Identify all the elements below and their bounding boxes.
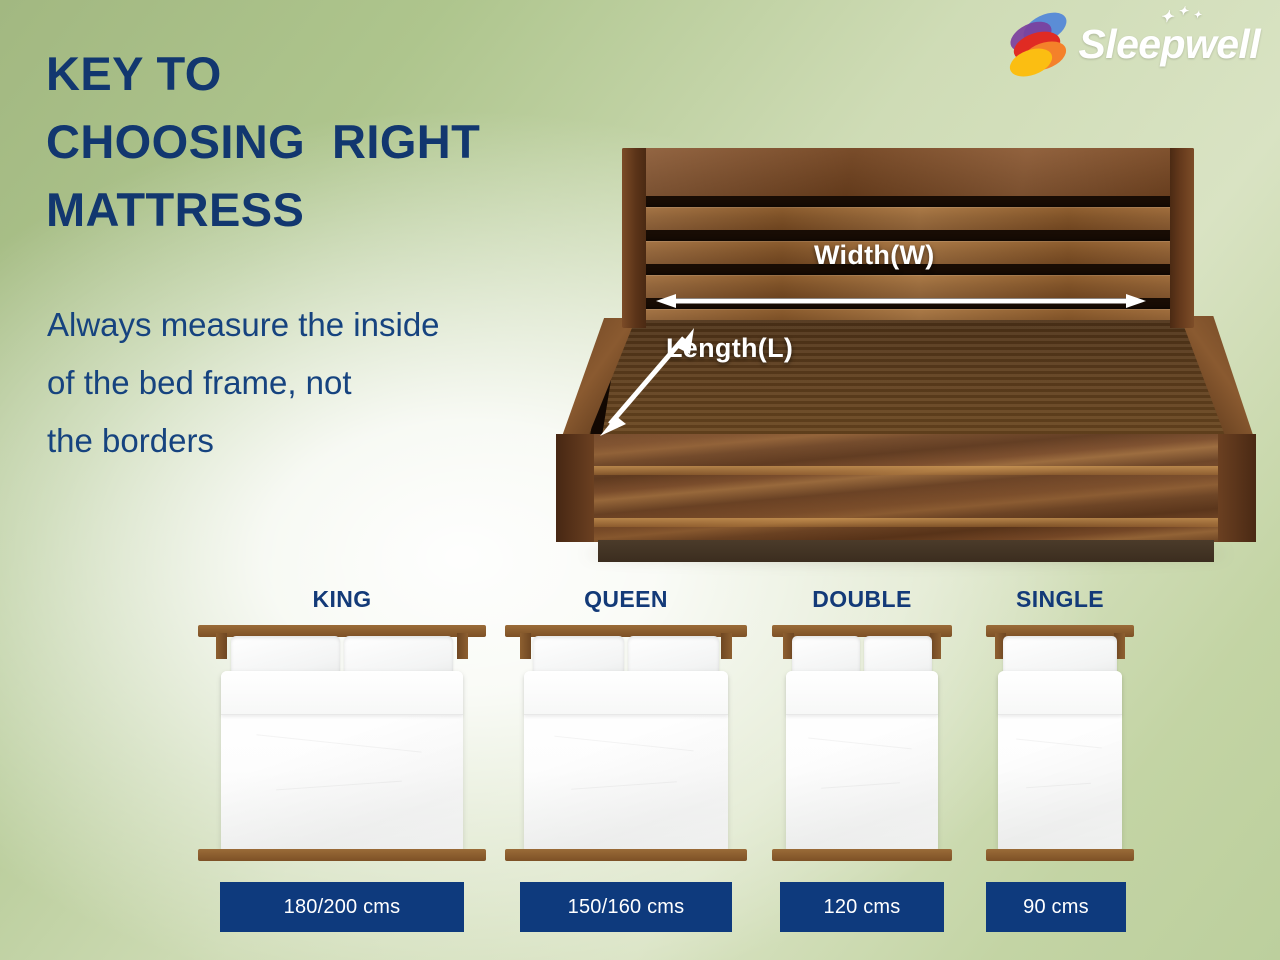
mini-bed-post-left bbox=[520, 633, 531, 659]
page-subtitle-line-1: Always measure the inside bbox=[47, 296, 567, 354]
mini-bed-post-left bbox=[216, 633, 227, 659]
mini-bed-post-right bbox=[721, 633, 732, 659]
star-icon-2: ✦ bbox=[1178, 5, 1187, 17]
logo-stars-icon: ✦ ✦ ✦ bbox=[1156, 7, 1216, 29]
mini-bed-footrail bbox=[505, 849, 747, 861]
double-arrow-diagonal-icon bbox=[586, 324, 706, 440]
headboard-gap bbox=[622, 196, 1194, 207]
brand-logo: ✦ ✦ ✦ Sleepwell bbox=[1007, 8, 1260, 80]
page-title-line-2: CHOOSING RIGHT bbox=[46, 108, 606, 176]
mini-bed-duvet-fold bbox=[786, 671, 938, 715]
footboard-cap-left bbox=[556, 434, 594, 542]
page-title-line-1: KEY TO bbox=[46, 40, 606, 108]
headboard-top-panel bbox=[622, 148, 1194, 196]
sleepwell-s-mark-icon bbox=[1007, 11, 1069, 77]
mini-bed-duvet-fold bbox=[998, 671, 1123, 715]
mini-bed-king bbox=[216, 625, 468, 861]
size-title-single: SINGLE bbox=[980, 586, 1140, 613]
size-title-queen: QUEEN bbox=[508, 586, 744, 613]
size-column-single: SINGLE 90 cms bbox=[980, 586, 1140, 861]
size-badge-double: 120 cms bbox=[780, 882, 944, 932]
headboard-slat bbox=[622, 207, 1194, 230]
mini-bed-duvet-fold bbox=[221, 671, 463, 715]
page-subtitle-line-3: the borders bbox=[47, 412, 567, 470]
size-column-queen: QUEEN 150/160 cms bbox=[508, 586, 744, 861]
bed-frame-illustration: Width(W) Length(L) bbox=[556, 148, 1256, 558]
size-column-king: KING 180/200 cms bbox=[206, 586, 478, 861]
mini-bed-footrail bbox=[198, 849, 485, 861]
mini-bed-post-right bbox=[457, 633, 468, 659]
size-badge-single: 90 cms bbox=[986, 882, 1126, 932]
size-badge-queen: 150/160 cms bbox=[520, 882, 732, 932]
star-icon-3: ✦ bbox=[1193, 11, 1201, 21]
mini-bed-double bbox=[783, 625, 941, 861]
mini-bed-queen bbox=[520, 625, 732, 861]
mini-bed-footrail bbox=[986, 849, 1134, 861]
page-subtitle: Always measure the inside of the bed fra… bbox=[47, 296, 567, 469]
width-measurement-label: Width(W) bbox=[814, 240, 935, 271]
headboard-post-left bbox=[622, 148, 646, 328]
brand-name: ✦ ✦ ✦ Sleepwell bbox=[1079, 21, 1260, 68]
size-badge-king: 180/200 cms bbox=[220, 882, 464, 932]
size-column-double: DOUBLE 120 cms bbox=[772, 586, 952, 861]
double-arrow-horizontal-icon bbox=[656, 294, 1146, 308]
bed-plinth bbox=[598, 540, 1214, 562]
mini-bed-single bbox=[995, 625, 1125, 861]
mini-bed-footrail bbox=[772, 849, 952, 861]
star-icon-1: ✦ bbox=[1160, 10, 1173, 26]
footboard-grain-band bbox=[556, 466, 1256, 475]
page-title: KEY TO CHOOSING RIGHT MATTRESS bbox=[46, 40, 606, 244]
size-title-double: DOUBLE bbox=[772, 586, 952, 613]
bed-size-comparison: KING 180/200 cms QUEEN bbox=[0, 586, 1280, 936]
page-subtitle-line-2: of the bed frame, not bbox=[47, 354, 567, 412]
footboard-cap-right bbox=[1218, 434, 1256, 542]
page-title-line-3: MATTRESS bbox=[46, 176, 606, 244]
size-title-king: KING bbox=[206, 586, 478, 613]
mini-bed-post-right bbox=[930, 633, 941, 659]
bed-footboard bbox=[556, 434, 1256, 542]
headboard-post-right bbox=[1170, 148, 1194, 328]
mini-bed-duvet-fold bbox=[524, 671, 728, 715]
footboard-grain-band bbox=[556, 518, 1256, 527]
